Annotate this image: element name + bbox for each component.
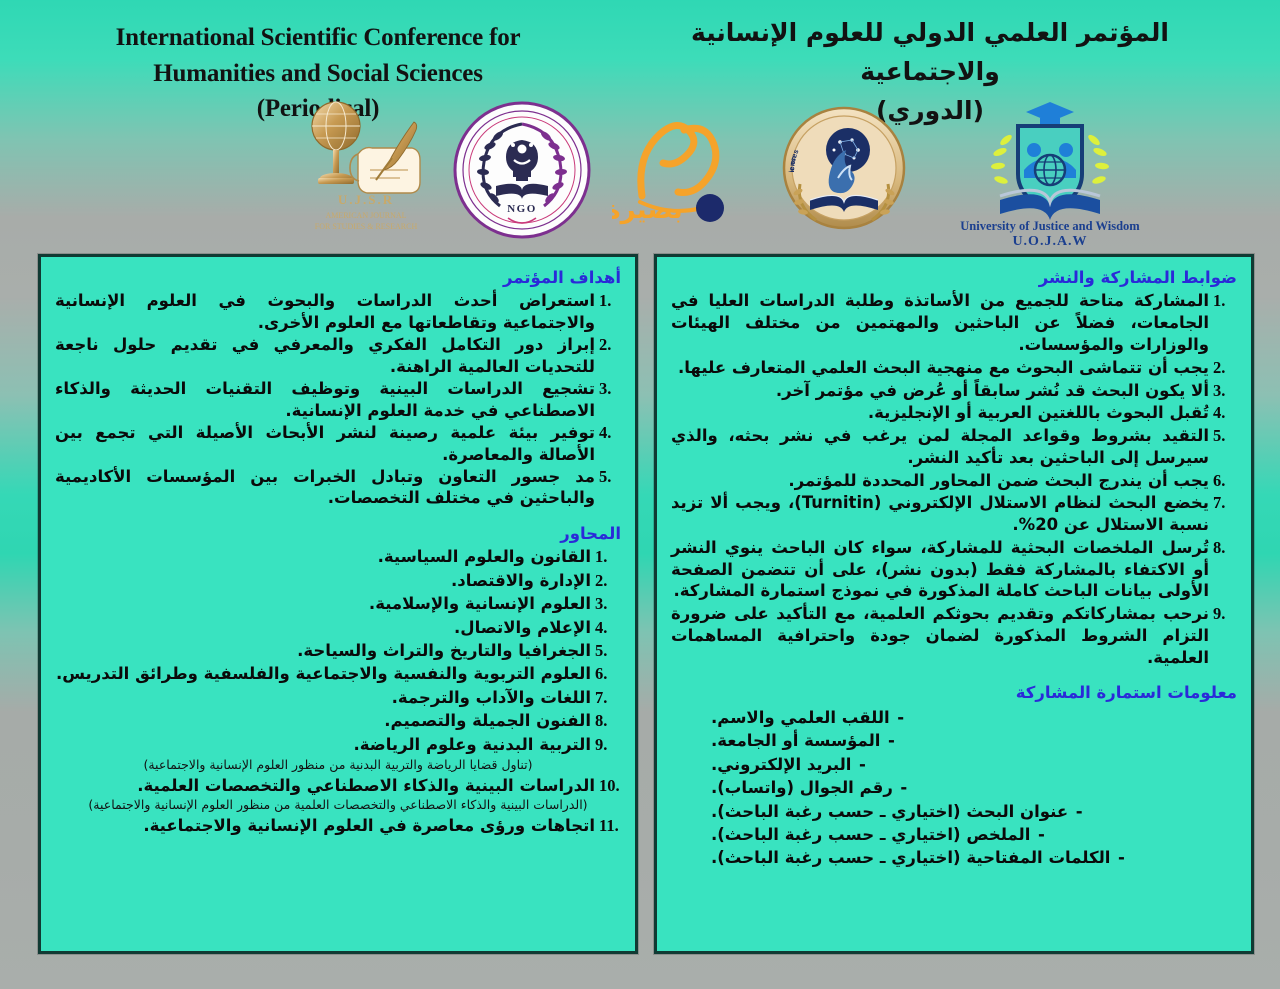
item-text: يجب أن تتماشى البحوث مع منهجية البحث الع… <box>671 357 1209 379</box>
item-text: إبراز دور التكامل الفكري والمعرفي في تقد… <box>55 334 595 377</box>
list-item: 11. اتجاهات ورؤى معاصرة في العلوم الإنسا… <box>55 815 621 836</box>
basira-logo: بصيرة <box>612 98 762 238</box>
item-number: 1. <box>1209 290 1237 312</box>
goals-list: 1. استعراض أحدث الدراسات والبحوث في العل… <box>55 290 621 508</box>
svg-text:U.J.S.R: U.J.S.R <box>338 192 394 207</box>
item-number: 9. <box>1209 603 1237 625</box>
dash-marker: - <box>890 706 912 729</box>
item-text: الإعلام والاتصال. <box>55 617 591 638</box>
svg-text:AMERICAN JOURNAL: AMERICAN JOURNAL <box>325 211 406 220</box>
axis-11-list: 11. اتجاهات ورؤى معاصرة في العلوم الإنسا… <box>55 815 621 836</box>
ujsr-logo: U.J.S.R AMERICAN JOURNAL FOR STUDIES & R… <box>296 92 436 244</box>
item-number: 2. <box>591 570 621 591</box>
title-arabic-line1: المؤتمر العلمي الدولي للعلوم الإنسانية و… <box>620 14 1240 92</box>
list-item: 6. يجب أن يندرج البحث ضمن المحاور المحدد… <box>671 470 1237 492</box>
list-item: 3. ألا يكون البحث قد نُشر سابقاً أو عُرض… <box>671 380 1237 402</box>
item-text: يجب أن يندرج البحث ضمن المحاور المحددة ل… <box>671 470 1209 492</box>
dash-marker: - <box>880 729 902 752</box>
list-item: 5. مد جسور التعاون وتبادل الخبرات بين ال… <box>55 466 621 509</box>
item-text: العلوم التربوية والنفسية والاجتماعية وال… <box>55 663 591 684</box>
item-number: 3. <box>595 378 621 399</box>
item-text: الإدارة والاقتصاد. <box>55 570 591 591</box>
list-item: 9. التربية البدنية وعلوم الرياضة. <box>55 734 621 755</box>
list-item: - الكلمات المفتاحية (اختياري ـ حسب رغبة … <box>671 846 1237 869</box>
item-text: مد جسور التعاون وتبادل الخبرات بين المؤس… <box>55 466 595 509</box>
goals-heading: أهداف المؤتمر <box>55 267 621 288</box>
item-text: استعراض أحدث الدراسات والبحوث في العلوم … <box>55 290 595 333</box>
list-item: 8. الفنون الجميلة والتصميم. <box>55 710 621 731</box>
svg-text:بصيرة: بصيرة <box>612 195 683 225</box>
list-item: - رقم الجوال (واتساب). <box>671 776 1237 799</box>
list-item: 3. تشجيع الدراسات البينية وتوظيف التقنيا… <box>55 378 621 421</box>
item-text: نرحب بمشاركاتكم وتقديم بحوثكم العلمية، م… <box>671 603 1209 668</box>
item-text: الدراسات البينية والذكاء الاصطناعي والتخ… <box>55 775 595 796</box>
form-fields-list: - اللقب العلمي والاسم. - المؤسسة أو الجا… <box>671 706 1237 870</box>
list-item: - اللقب العلمي والاسم. <box>671 706 1237 729</box>
item-number: 7. <box>591 687 621 708</box>
dash-marker: - <box>893 776 915 799</box>
rules-and-form-panel: ضوابط المشاركة والنشر 1. المشاركة متاحة … <box>654 254 1254 954</box>
conference-poster: International Scientific Conference for … <box>0 0 1280 989</box>
item-number: 1. <box>591 546 621 567</box>
item-number: 5. <box>1209 425 1237 447</box>
axis-10-list: 10. الدراسات البينية والذكاء الاصطناعي و… <box>55 775 621 796</box>
item-number: 4. <box>1209 402 1237 424</box>
item-text: عنوان البحث (اختياري ـ حسب رغبة الباحث). <box>711 800 1068 823</box>
item-text: التقيد بشروط وقواعد المجلة لمن يرغب في ن… <box>671 425 1209 469</box>
axis-9-note: (تناول قضايا الرياضة والتربية البدنية من… <box>71 757 605 773</box>
item-text: المشاركة متاحة للجميع من الأساتذة وطلبة … <box>671 290 1209 355</box>
iscss-logo: International Scientific Conference on H… <box>768 92 920 244</box>
item-number: 3. <box>591 593 621 614</box>
list-item: 7. يخضع البحث لنظام الاستلال الإلكتروني … <box>671 492 1237 536</box>
item-number: 5. <box>591 640 621 661</box>
list-item: 2. الإدارة والاقتصاد. <box>55 570 621 591</box>
item-number: 11. <box>595 815 621 836</box>
list-item: 1. استعراض أحدث الدراسات والبحوث في العل… <box>55 290 621 333</box>
item-number: 4. <box>591 617 621 638</box>
list-item: 9. نرحب بمشاركاتكم وتقديم بحوثكم العلمية… <box>671 603 1237 668</box>
title-english-line2: Humanities and Social Sciences <box>18 56 618 92</box>
item-number: 9. <box>591 734 621 755</box>
item-text: المؤسسة أو الجامعة. <box>711 729 880 752</box>
svg-text:NGO: NGO <box>507 203 537 215</box>
item-text: تُرسل الملخصات البحثية للمشاركة، سواء كا… <box>671 537 1209 602</box>
item-text: يخضع البحث لنظام الاستلال الإلكتروني (Tu… <box>671 492 1209 536</box>
item-text: الملخص (اختياري ـ حسب رغبة الباحث). <box>711 823 1030 846</box>
dash-marker: - <box>1030 823 1052 846</box>
item-number: 4. <box>595 422 621 443</box>
list-item: 1. القانون والعلوم السياسية. <box>55 546 621 567</box>
item-number: 8. <box>1209 537 1237 559</box>
item-text: التربية البدنية وعلوم الرياضة. <box>55 734 591 755</box>
item-text: العلوم الإنسانية والإسلامية. <box>55 593 591 614</box>
item-text: رقم الجوال (واتساب). <box>711 776 893 799</box>
list-item: 2. إبراز دور التكامل الفكري والمعرفي في … <box>55 334 621 377</box>
list-item: 4. تُقبل البحوث باللغتين العربية أو الإن… <box>671 402 1237 424</box>
ngo-logo: NGO <box>452 100 592 240</box>
rules-list: 1. المشاركة متاحة للجميع من الأساتذة وطل… <box>671 290 1237 668</box>
list-item: 5. التقيد بشروط وقواعد المجلة لمن يرغب ف… <box>671 425 1237 469</box>
list-item: 6. العلوم التربوية والنفسية والاجتماعية … <box>55 663 621 684</box>
item-text: الفنون الجميلة والتصميم. <box>55 710 591 731</box>
list-item: 2. يجب أن تتماشى البحوث مع منهجية البحث … <box>671 357 1237 379</box>
dash-marker: - <box>851 753 873 776</box>
item-number: 5. <box>595 466 621 487</box>
axis-10-note: (الدراسات البينية والذكاء الاصطناعي والت… <box>71 797 605 813</box>
dash-marker: - <box>1110 846 1132 869</box>
list-item: 4. الإعلام والاتصال. <box>55 617 621 638</box>
item-text: الجغرافيا والتاريخ والتراث والسياحة. <box>55 640 591 661</box>
item-number: 3. <box>1209 380 1237 402</box>
item-number: 10. <box>595 775 621 796</box>
svg-text:University of Justice and Wisd: University of Justice and Wisdom <box>960 219 1140 233</box>
list-item: - الملخص (اختياري ـ حسب رغبة الباحث). <box>671 823 1237 846</box>
uojaw-logo: University of Justice and Wisdom U.O.J.A… <box>944 96 1156 246</box>
list-item: 3. العلوم الإنسانية والإسلامية. <box>55 593 621 614</box>
form-heading: معلومات استمارة المشاركة <box>671 682 1237 703</box>
dash-marker: - <box>1068 800 1090 823</box>
item-text: اتجاهات ورؤى معاصرة في العلوم الإنسانية … <box>55 815 595 836</box>
item-number: 6. <box>1209 470 1237 492</box>
list-item: 8. تُرسل الملخصات البحثية للمشاركة، سواء… <box>671 537 1237 602</box>
item-number: 2. <box>1209 357 1237 379</box>
list-item: - المؤسسة أو الجامعة. <box>671 729 1237 752</box>
item-text: اللغات والآداب والترجمة. <box>55 687 591 708</box>
poster-header: International Scientific Conference for … <box>0 0 1280 248</box>
rules-heading: ضوابط المشاركة والنشر <box>671 267 1237 288</box>
list-item: 1. المشاركة متاحة للجميع من الأساتذة وطل… <box>671 290 1237 355</box>
item-text: توفير بيئة علمية رصينة لنشر الأبحاث الأص… <box>55 422 595 465</box>
list-item: 10. الدراسات البينية والذكاء الاصطناعي و… <box>55 775 621 796</box>
item-number: 7. <box>1209 492 1237 514</box>
axes-list: 1. القانون والعلوم السياسية. 2. الإدارة … <box>55 546 621 755</box>
axes-heading: المحاور <box>55 523 621 544</box>
item-text: ألا يكون البحث قد نُشر سابقاً أو عُرض في… <box>671 380 1209 402</box>
item-text: تشجيع الدراسات البينية وتوظيف التقنيات ا… <box>55 378 595 421</box>
list-item: - البريد الإلكتروني. <box>671 753 1237 776</box>
item-number: 2. <box>595 334 621 355</box>
list-item: - عنوان البحث (اختياري ـ حسب رغبة الباحث… <box>671 800 1237 823</box>
item-number: 1. <box>595 290 621 311</box>
item-text: البريد الإلكتروني. <box>711 753 851 776</box>
svg-text:U.O.J.A.W: U.O.J.A.W <box>1012 234 1087 246</box>
item-text: الكلمات المفتاحية (اختياري ـ حسب رغبة ال… <box>711 846 1110 869</box>
list-item: 5. الجغرافيا والتاريخ والتراث والسياحة. <box>55 640 621 661</box>
item-number: 6. <box>591 663 621 684</box>
item-text: القانون والعلوم السياسية. <box>55 546 591 567</box>
list-item: 7. اللغات والآداب والترجمة. <box>55 687 621 708</box>
item-text: اللقب العلمي والاسم. <box>711 706 890 729</box>
item-text: تُقبل البحوث باللغتين العربية أو الإنجلي… <box>671 402 1209 424</box>
goals-and-topics-panel: أهداف المؤتمر 1. استعراض أحدث الدراسات و… <box>38 254 638 954</box>
list-item: 4. توفير بيئة علمية رصينة لنشر الأبحاث ا… <box>55 422 621 465</box>
item-number: 8. <box>591 710 621 731</box>
svg-text:FOR STUDIES & RESEARCH: FOR STUDIES & RESEARCH <box>315 222 418 231</box>
title-english-line1: International Scientific Conference for <box>18 20 618 56</box>
